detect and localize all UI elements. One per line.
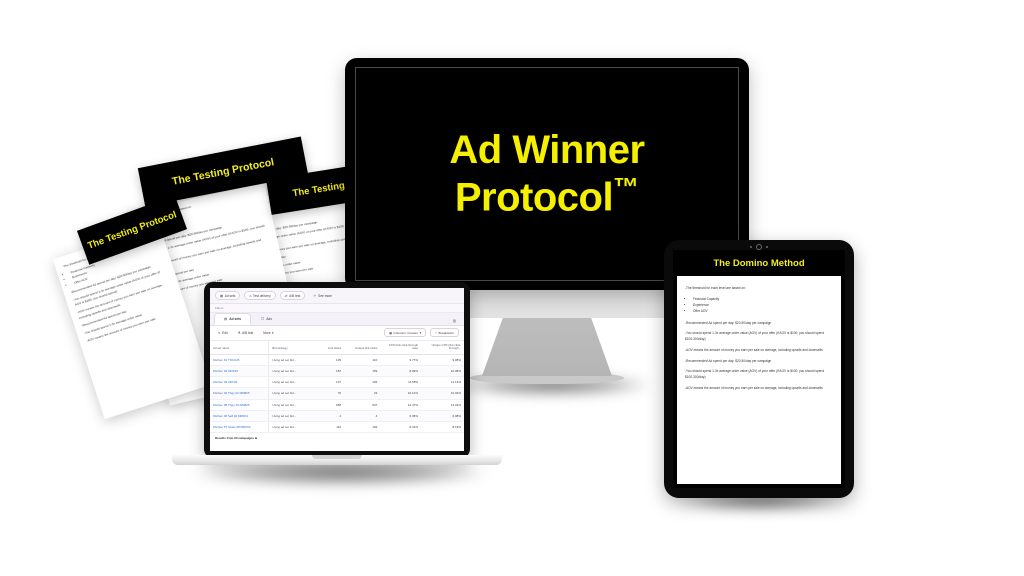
monitor-stand-neck [482, 318, 612, 376]
cell-adset-name[interactable]: Kitchen 04 Thqy 02 080825 [210, 388, 269, 399]
cell-bid-strategy: Using ad set bid... [269, 365, 310, 376]
cell-ctr: 12.47% [380, 399, 421, 410]
monitor-title-line2: Protocol [455, 175, 613, 219]
cell-unique-link-clicks: 104 [344, 421, 380, 432]
tab-adsets[interactable]: ▤ Ad sets [214, 313, 251, 325]
toolbar-abtest-label: A/B test [242, 331, 253, 335]
ads-table-footer: Results from 33 campaigns ▪ [210, 433, 464, 443]
product-mockup-scene: -The threshold for each level are based … [0, 0, 1024, 576]
cell-bid-strategy: Using ad set bid... [269, 377, 310, 388]
topbar-adsets-label: Ad sets [225, 294, 236, 298]
pencil-icon: ✎ [218, 331, 221, 335]
cell-bid-strategy: Using ad set bid... [269, 388, 310, 399]
cell-link-clicks: 76 [310, 388, 344, 399]
cell-adset-name[interactable]: Kitchen 03 ADV25 [210, 377, 269, 388]
cell-ctr: 6.35% [380, 410, 421, 421]
tablet-doc-para-4: -You should spend 1-3x average order val… [685, 369, 833, 381]
cell-link-clicks: 112 [310, 421, 344, 432]
cell-adset-name[interactable]: Kitchen 06 Sell 02 MRK01 [210, 410, 269, 421]
cell-unique-ctr: 8.19% [421, 421, 464, 432]
tablet-device: The Domino Method -The threshold for eac… [664, 240, 854, 498]
breakdown-icon: ⑂ [435, 331, 437, 335]
cell-bid-strategy: Using ad set bid... [269, 354, 310, 365]
adsets-icon: ▤ [224, 317, 227, 321]
toolbar-edit-label: Edit [222, 331, 228, 335]
tablet-doc-bullets: Financial Capacity Experience Offer AOV [685, 297, 833, 315]
trademark-symbol: ™ [613, 172, 639, 202]
tab-adsets-label: Ad sets [229, 317, 241, 321]
tablet-doc-para-3: -Recommended Ad spend per day: $20-50/da… [685, 359, 833, 365]
table-row[interactable]: Kitchen 06 Sell 02 MRK01 Using ad set bi… [210, 410, 464, 421]
cell-unique-ctr: 11.13% [421, 377, 464, 388]
tablet-doc-intro: -The threshold for each level are based … [685, 286, 833, 292]
th-unique-link-clicks[interactable]: Unique link clicks [344, 341, 380, 355]
ads-table-header-row: Ad set name Bid strategy Link clicks Uni… [210, 341, 464, 355]
tablet-screen: The Domino Method -The threshold for eac… [673, 250, 845, 488]
table-settings-icon[interactable]: ▥ [449, 317, 460, 325]
cell-ctr: 11.55% [380, 377, 421, 388]
table-row[interactable]: Kitchen 03 ADV25 Using ad set bid... 137… [210, 377, 464, 388]
cell-unique-link-clicks: 110 [344, 354, 380, 365]
tablet-doc-para-0: -Recommended Ad spend per day: $20-50/da… [685, 321, 833, 327]
tab-ads-label: Ads [266, 317, 272, 321]
ads-table: Ad set name Bid strategy Link clicks Uni… [210, 341, 464, 434]
topbar-see-more-pill[interactable]: ＋ See more [309, 292, 336, 300]
th-unique-ctr[interactable]: Unique CTR (link click-through... [421, 341, 464, 355]
toolbar-abtest-button[interactable]: ⚗ A/B test [235, 330, 257, 336]
topbar-test-delivery-pill[interactable]: ⌂ Test delivery [244, 291, 275, 300]
tab-ads[interactable]: ☐ Ads [251, 313, 282, 325]
th-bid-strategy[interactable]: Bid strategy [269, 341, 310, 355]
th-link-clicks[interactable]: Link clicks [310, 341, 344, 355]
monitor-title: Ad Winner Protocol™ [437, 128, 656, 220]
cell-unique-link-clicks: 105 [344, 377, 380, 388]
cell-bid-strategy: Using ad set bid... [269, 399, 310, 410]
topbar-adsets-pill[interactable]: ▦ Ad sets [215, 291, 240, 300]
tablet-doc-para-1: -You should spend 1-3x average order val… [685, 331, 833, 343]
toolbar-right-group: ▦ Columns: Custom ▾ ⑂ Breakdown [384, 328, 459, 337]
cell-unique-ctr: 10.04% [421, 388, 464, 399]
cell-link-clicks: 135 [310, 354, 344, 365]
camera-dot-right-icon [766, 246, 768, 248]
grid-icon: ▦ [220, 294, 223, 298]
topbar-see-more-label: See more [318, 294, 332, 298]
toolbar-breakdown-button[interactable]: ⑂ Breakdown [430, 328, 459, 337]
cell-ctr: 10.12% [380, 388, 421, 399]
cell-unique-ctr: 12.24% [421, 399, 464, 410]
cell-bid-strategy: Using ad set bid... [269, 410, 310, 421]
cell-adset-name[interactable]: Kitchen 07 Scale 08 MRK02 [210, 421, 269, 432]
toolbar-columns-label: Columns: Custom [394, 331, 419, 335]
cell-unique-ctr: 9.08% [421, 354, 464, 365]
toolbar-more-label: More [263, 331, 270, 335]
ads-topbar: ▦ Ad sets ⌂ Test delivery ⇄ A/B test ＋ S… [210, 288, 464, 304]
tablet-doc-para-5: -AOV means the amount of money you earn … [685, 386, 833, 392]
ab-test-icon: ⇄ [285, 294, 288, 298]
cell-link-clicks: 137 [310, 377, 344, 388]
columns-chevron-down-icon: ▾ [420, 331, 422, 335]
tablet-doc-bullet-2: Offer AOV [693, 309, 833, 315]
tablet-heading: The Domino Method [673, 250, 845, 276]
camera-dot-left-icon [750, 246, 752, 248]
cell-link-clicks: 4 [310, 410, 344, 421]
cell-bid-strategy: Using ad set bid... [269, 421, 310, 432]
ads-table-head: Ad set name Bid strategy Link clicks Uni… [210, 341, 464, 355]
monitor-title-line1: Ad Winner [449, 128, 644, 172]
topbar-ab-test-pill[interactable]: ⇄ A/B test [280, 291, 306, 300]
laptop-screen: ▦ Ad sets ⌂ Test delivery ⇄ A/B test ＋ S… [210, 288, 464, 451]
ads-icon: ☐ [261, 317, 264, 321]
cell-unique-link-clicks: 159 [344, 365, 380, 376]
cell-link-clicks: 187 [310, 365, 344, 376]
flask-icon: ⌂ [249, 294, 251, 298]
ads-table-body: Kitchen 01 TOFU25 Using ad set bid... 13… [210, 354, 464, 432]
info-icon: ▪ [255, 436, 257, 440]
ads-tabs: ▤ Ad sets ☐ Ads ▥ [210, 313, 464, 326]
ads-filterbar[interactable]: Filters [210, 304, 464, 313]
plus-icon: ＋ [313, 293, 316, 298]
cell-ctr: 8.99% [380, 365, 421, 376]
table-row[interactable]: Kitchen 07 Scale 08 MRK02 Using ad set b… [210, 421, 464, 432]
cell-unique-ctr: 6.08% [421, 410, 464, 421]
table-row[interactable]: Kitchen 01 TOFU25 Using ad set bid... 13… [210, 354, 464, 365]
toolbar-more-button[interactable]: More ▾ [260, 330, 276, 336]
topbar-test-delivery-label: Test delivery [253, 294, 271, 298]
chevron-down-icon: ▾ [272, 331, 274, 335]
columns-icon: ▦ [389, 331, 392, 335]
cell-adset-name[interactable]: Kitchen 02 MOF25 [210, 365, 269, 376]
cell-unique-link-clicks: 637 [344, 399, 380, 410]
beaker-icon: ⚗ [238, 331, 241, 335]
ads-footer-label: Results from 33 campaigns [215, 436, 254, 440]
th-ctr[interactable]: CTR (link click-through rate) [380, 341, 421, 355]
tablet-doc-para-2: -AOV means the amount of money you earn … [685, 348, 833, 354]
cell-unique-ctr: 10.08% [421, 365, 464, 376]
tablet-document-page: -The threshold for each level are based … [677, 276, 841, 484]
cell-adset-name[interactable]: Kitchen 01 TOFU25 [210, 354, 269, 365]
cell-ctr: 8.41% [380, 421, 421, 432]
table-row[interactable]: Kitchen 05 Thqy 23 080825 Using ad set b… [210, 399, 464, 410]
topbar-ab-test-label: A/B test [289, 294, 300, 298]
laptop-base-notch [312, 455, 362, 459]
toolbar-edit-button[interactable]: ✎ Edit [215, 330, 231, 336]
toolbar-columns-button[interactable]: ▦ Columns: Custom ▾ [384, 328, 426, 337]
table-row[interactable]: Kitchen 04 Thqy 02 080825 Using ad set b… [210, 388, 464, 399]
toolbar-breakdown-label: Breakdown [439, 331, 454, 335]
table-row[interactable]: Kitchen 02 MOF25 Using ad set bid... 187… [210, 365, 464, 376]
cell-link-clicks: 656 [310, 399, 344, 410]
laptop-device: ▦ Ad sets ⌂ Test delivery ⇄ A/B test ＋ S… [204, 282, 470, 458]
cell-adset-name[interactable]: Kitchen 05 Thqy 23 080825 [210, 399, 269, 410]
ads-toolbar: ✎ Edit ⚗ A/B test More ▾ ▦ Column [210, 326, 464, 341]
ads-manager-ui: ▦ Ad sets ⌂ Test delivery ⇄ A/B test ＋ S… [210, 288, 464, 451]
cell-ctr: 9.77% [380, 354, 421, 365]
th-adset-name[interactable]: Ad set name [210, 341, 269, 355]
cell-unique-link-clicks: 23 [344, 388, 380, 399]
cell-unique-link-clicks: 4 [344, 410, 380, 421]
